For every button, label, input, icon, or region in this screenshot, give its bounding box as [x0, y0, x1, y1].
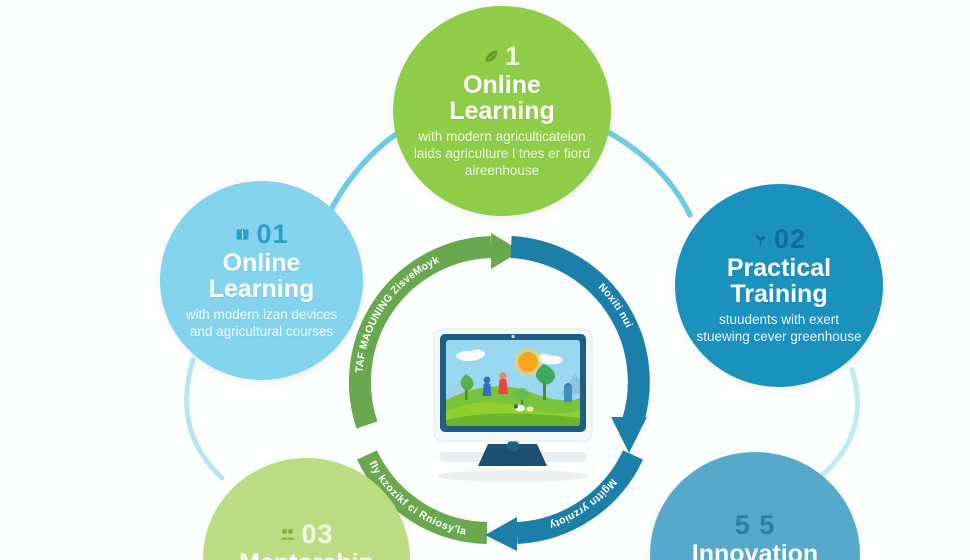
node-practical-training[interactable]: 02 Practical Training stuudents with exe…	[675, 184, 883, 387]
node-number-row: 03	[279, 521, 333, 548]
node-description: stuudents with exert stuewing cever gree…	[692, 311, 867, 345]
leaf-badge-icon	[483, 48, 500, 65]
desktop-computer-illustration	[425, 324, 600, 484]
infographic-canvas: TAF MAOUNING ZisveMoyk Noxiti nui fly kz…	[0, 0, 970, 560]
people-badge-icon	[279, 526, 296, 543]
node-number: 02	[774, 226, 806, 253]
plant-badge-icon	[752, 231, 769, 248]
node-title-line1: Innovation	[692, 541, 818, 560]
figure-farmer-blue	[483, 377, 492, 396]
node-title: Practical Training	[727, 255, 831, 307]
node-innovation-projects[interactable]: 5 5 Innovation Projects	[650, 452, 860, 560]
node-title: Innovation Projects	[692, 541, 818, 560]
node-title-line1: Mentorship	[239, 550, 374, 560]
sun-icon	[518, 352, 538, 372]
node-title-line2: Learning	[449, 98, 555, 124]
node-number: 03	[301, 521, 333, 548]
node-title-line1: Online	[449, 72, 555, 98]
node-number: 1	[505, 43, 521, 70]
node-number-row: 5 5	[735, 512, 776, 539]
node-title: Mentorship	[239, 550, 374, 560]
node-title: Online Learning	[209, 250, 315, 302]
node-title: Online Learning	[449, 72, 555, 124]
figure-farmer-red	[498, 372, 508, 394]
node-title-line1: Practical	[727, 255, 831, 281]
node-number: 5 5	[735, 512, 776, 539]
node-number-row: 02	[752, 226, 806, 253]
node-number-row: 01	[234, 221, 288, 248]
node-description: with modern izan devices and agricultura…	[176, 306, 347, 340]
node-number-row: 1	[483, 43, 521, 70]
node-title-line2: Learning	[209, 276, 315, 302]
node-online-learning-left[interactable]: 01 Online Learning with modern izan devi…	[160, 181, 363, 380]
screen-scene	[446, 340, 592, 426]
node-description: with modern agriculticateion laids agric…	[410, 128, 593, 179]
node-online-learning-top[interactable]: 1 Online Learning with modern agricultic…	[393, 6, 611, 216]
node-title-line2: Training	[727, 281, 831, 307]
node-number: 01	[256, 221, 288, 248]
book-badge-icon	[234, 226, 251, 243]
node-title-line1: Online	[209, 250, 315, 276]
